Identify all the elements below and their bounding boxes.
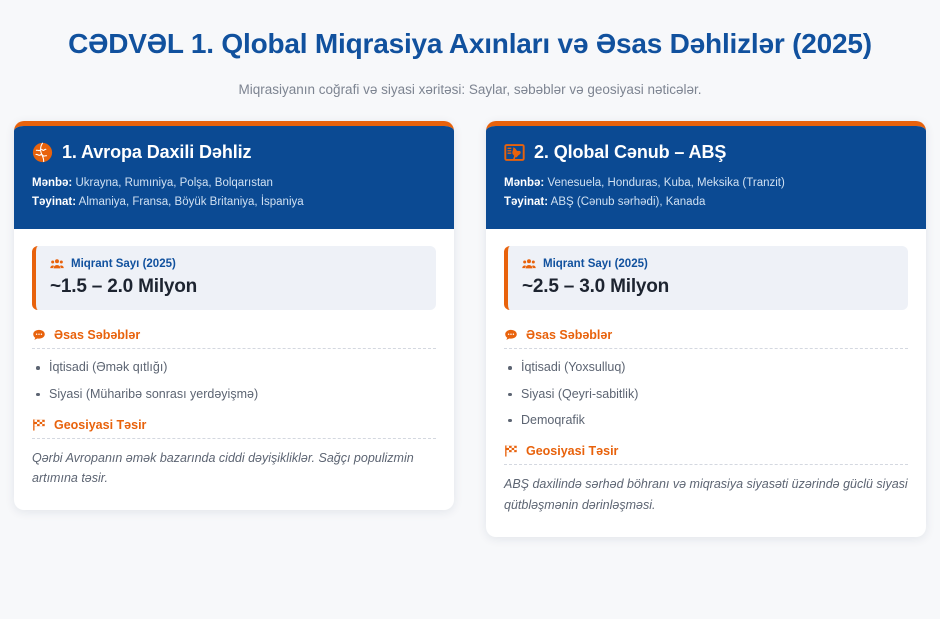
source-value-2: Venesuela, Honduras, Kuba, Meksika (Tran… <box>547 177 784 189</box>
card-body-1: Miqrant Sayı (2025) ~1.5 – 2.0 Milyon Əs… <box>14 229 454 510</box>
impact-heading-text-1: Geosiyasi Təsir <box>54 418 146 432</box>
waving-flag-icon <box>32 418 46 432</box>
waving-flag-icon <box>504 444 518 458</box>
causes-divider-1 <box>32 348 436 349</box>
migrant-count-box-1: Miqrant Sayı (2025) ~1.5 – 2.0 Milyon <box>32 246 436 310</box>
migrant-count-value-1: ~1.5 – 2.0 Milyon <box>50 276 422 298</box>
destination-label-2: Təyinat: <box>504 196 548 208</box>
impact-divider-2 <box>504 464 908 465</box>
page-subtitle: Miqrasiyanın coğrafi və siyasi xəritəsi:… <box>30 82 910 97</box>
cards-container: 1. Avropa Daxili Dəhliz Mənbə: Ukrayna, … <box>0 121 940 537</box>
list-item: İqtisadi (Əmək qıtlığı) <box>32 358 436 377</box>
source-value-1: Ukrayna, Rumıniya, Polşa, Bolqarıstan <box>75 177 273 189</box>
card-title-row-1: 1. Avropa Daxili Dəhliz <box>32 142 436 163</box>
list-item: Demoqrafik <box>504 411 908 430</box>
speech-bubble-icon <box>32 328 46 342</box>
destination-value-2: ABŞ (Cənub sərhədi), Kanada <box>551 196 706 208</box>
users-icon <box>50 257 64 271</box>
card-source-2: Mənbə: Venesuela, Honduras, Kuba, Meksik… <box>504 174 908 193</box>
causes-heading-1: Əsas Səbəblər <box>32 326 436 348</box>
causes-heading-2: Əsas Səbəblər <box>504 326 908 348</box>
world-map-icon <box>504 142 525 163</box>
page-title: CƏDVƏL 1. Qlobal Miqrasiya Axınları və Ə… <box>30 26 910 63</box>
speech-bubble-icon <box>504 328 518 342</box>
card-title-text-2: 2. Qlobal Cənub – ABŞ <box>534 142 726 163</box>
migrant-count-value-2: ~2.5 – 3.0 Milyon <box>522 276 894 298</box>
causes-divider-2 <box>504 348 908 349</box>
card-title-row-2: 2. Qlobal Cənub – ABŞ <box>504 142 908 163</box>
migrant-count-label-row-1: Miqrant Sayı (2025) <box>50 257 422 271</box>
impact-heading-text-2: Geosiyasi Təsir <box>526 444 618 458</box>
causes-list-2: İqtisadi (Yoxsulluq) Siyasi (Qeyri-sabit… <box>504 358 908 430</box>
impact-divider-1 <box>32 438 436 439</box>
corridor-card-2[interactable]: 2. Qlobal Cənub – ABŞ Mənbə: Venesuela, … <box>486 121 926 537</box>
migrant-count-box-2: Miqrant Sayı (2025) ~2.5 – 3.0 Milyon <box>504 246 908 310</box>
impact-heading-1: Geosiyasi Təsir <box>32 416 436 438</box>
card-header-1: 1. Avropa Daxili Dəhliz Mənbə: Ukrayna, … <box>14 126 454 229</box>
source-label-2: Mənbə: <box>504 177 544 189</box>
impact-text-2: ABŞ daxilində sərhəd böhranı və miqrasiy… <box>504 474 908 515</box>
source-label-1: Mənbə: <box>32 177 72 189</box>
causes-list-1: İqtisadi (Əmək qıtlığı) Siyasi (Müharibə… <box>32 358 436 404</box>
impact-heading-2: Geosiyasi Təsir <box>504 442 908 464</box>
card-destination-1: Təyinat: Almaniya, Fransa, Böyük Britani… <box>32 193 436 212</box>
card-body-2: Miqrant Sayı (2025) ~2.5 – 3.0 Milyon Əs… <box>486 229 926 537</box>
destination-label-1: Təyinat: <box>32 196 76 208</box>
globe-icon <box>32 142 53 163</box>
destination-value-1: Almaniya, Fransa, Böyük Britaniya, İspan… <box>79 196 304 208</box>
card-destination-2: Təyinat: ABŞ (Cənub sərhədi), Kanada <box>504 193 908 212</box>
migrant-count-label-1: Miqrant Sayı (2025) <box>71 258 176 270</box>
migrant-count-label-row-2: Miqrant Sayı (2025) <box>522 257 894 271</box>
list-item: İqtisadi (Yoxsulluq) <box>504 358 908 377</box>
page-header: CƏDVƏL 1. Qlobal Miqrasiya Axınları və Ə… <box>0 0 940 97</box>
causes-heading-text-2: Əsas Səbəblər <box>526 328 612 342</box>
card-title-text-1: 1. Avropa Daxili Dəhliz <box>62 142 251 163</box>
impact-text-1: Qərbi Avropanın əmək bazarında ciddi dəy… <box>32 448 436 489</box>
causes-heading-text-1: Əsas Səbəblər <box>54 328 140 342</box>
page-root: CƏDVƏL 1. Qlobal Miqrasiya Axınları və Ə… <box>0 0 940 619</box>
users-icon <box>522 257 536 271</box>
migrant-count-label-2: Miqrant Sayı (2025) <box>543 258 648 270</box>
list-item: Siyasi (Müharibə sonrası yerdəyişmə) <box>32 385 436 404</box>
card-header-2: 2. Qlobal Cənub – ABŞ Mənbə: Venesuela, … <box>486 126 926 229</box>
card-source-1: Mənbə: Ukrayna, Rumıniya, Polşa, Bolqarı… <box>32 174 436 193</box>
list-item: Siyasi (Qeyri-sabitlik) <box>504 385 908 404</box>
corridor-card-1[interactable]: 1. Avropa Daxili Dəhliz Mənbə: Ukrayna, … <box>14 121 454 511</box>
